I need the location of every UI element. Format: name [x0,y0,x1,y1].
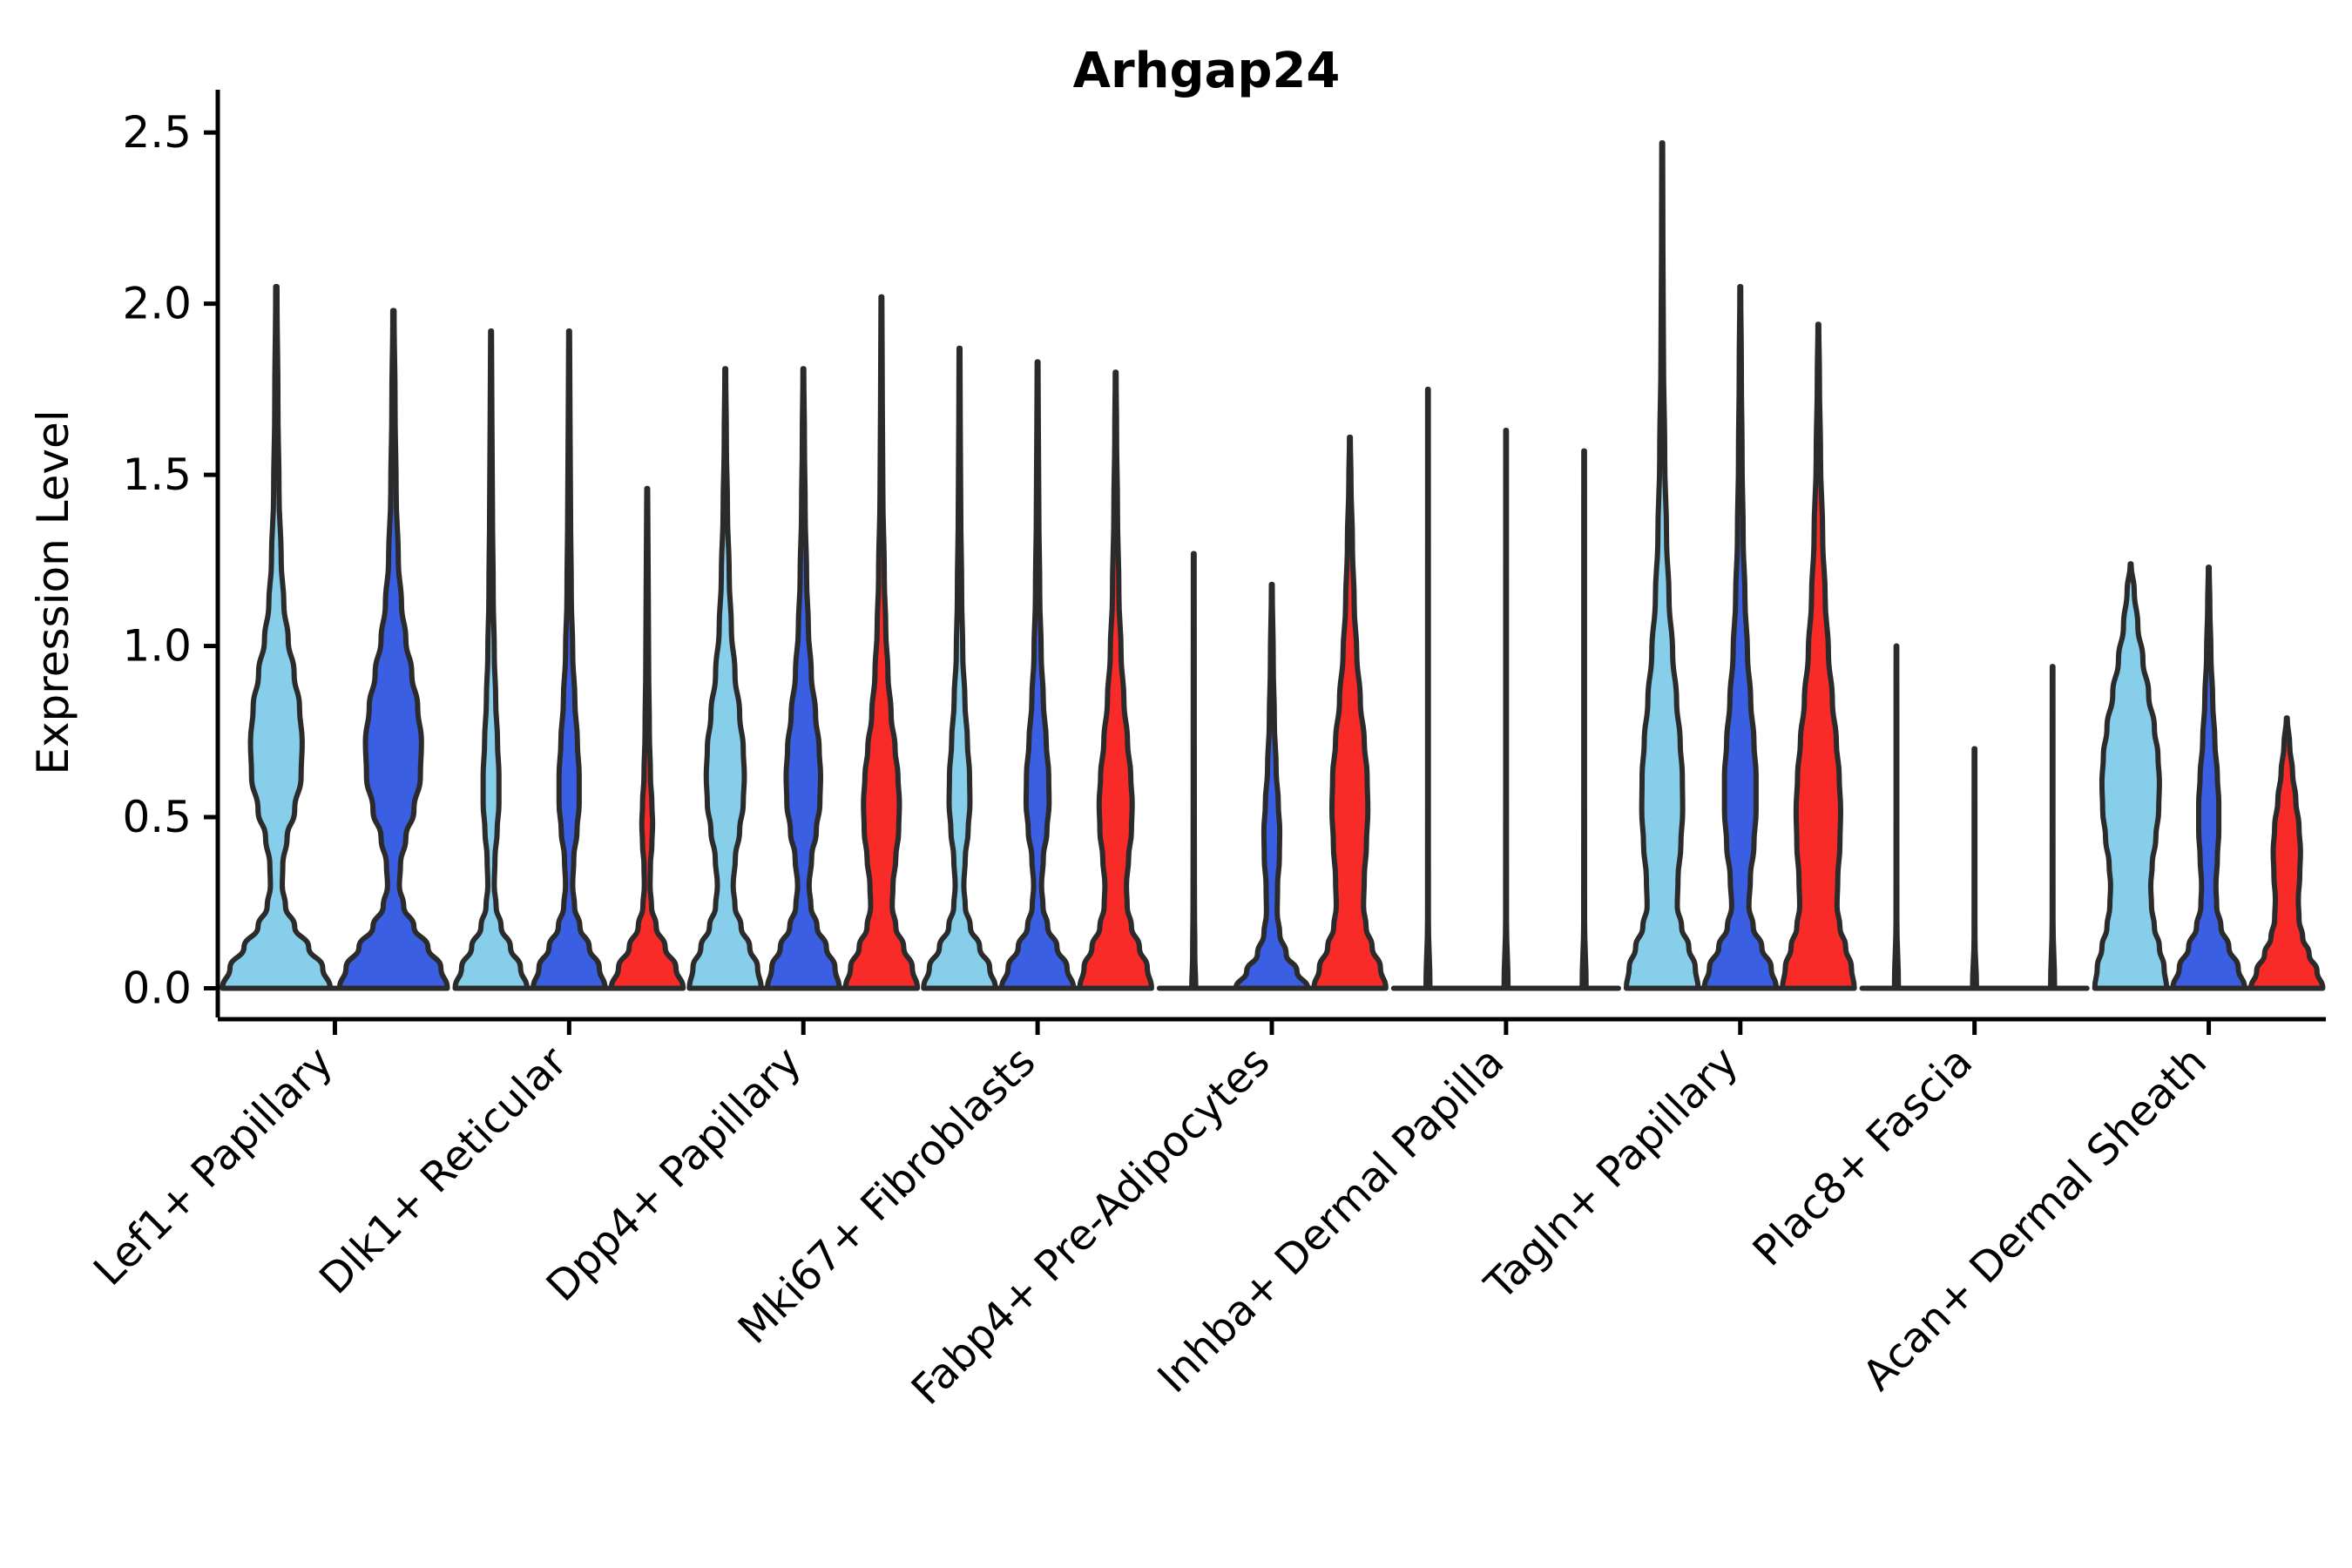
violin-shape[interactable] [1972,748,1977,988]
violin-shape[interactable] [2051,666,2055,988]
violin-shape[interactable] [1192,553,1196,988]
violin-shape[interactable] [1895,646,1899,989]
y-axis-tick-label: 0.5 [122,792,192,842]
violin-shape[interactable] [1426,389,1430,989]
y-axis-tick-label: 1.5 [122,449,192,500]
plot-canvas: Arhgap24 Expression Level 0.00.51.01.52.… [0,0,2352,1568]
page-title: Arhgap24 [1073,43,1341,99]
y-axis-tick-label: 2.5 [122,107,192,158]
y-axis-tick-label: 2.0 [122,279,192,329]
figure-background [0,0,2352,1568]
violin-plot-figure: Arhgap24 Expression Level 0.00.51.01.52.… [0,0,2352,1568]
y-axis-tick-label: 0.0 [122,963,192,1013]
violin-shape[interactable] [1504,430,1509,988]
violin-shape[interactable] [1582,451,1586,989]
y-axis-label: Expression Level [28,409,78,774]
y-axis-tick-label: 1.0 [122,621,192,672]
